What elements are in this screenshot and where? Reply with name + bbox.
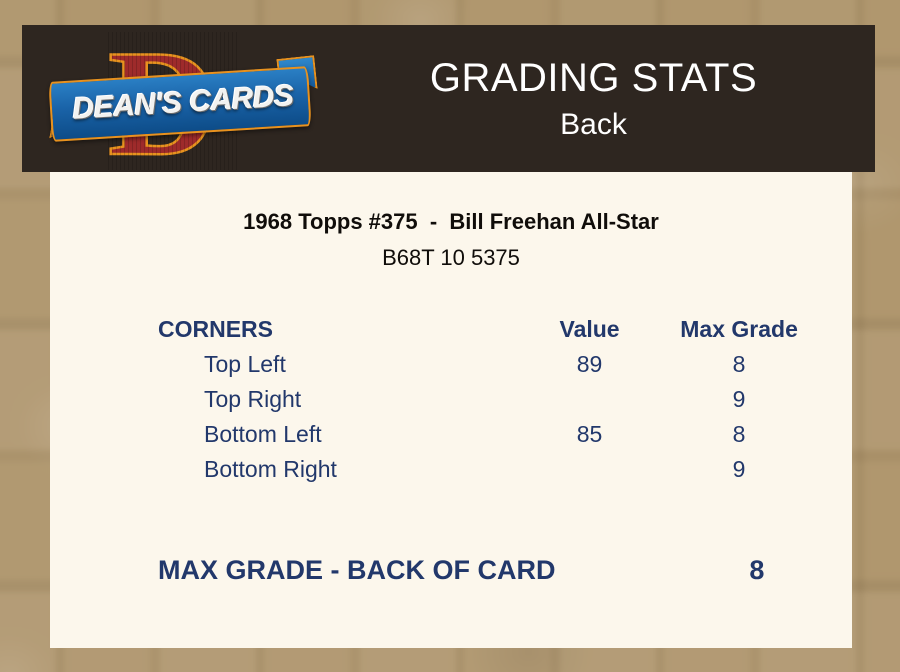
corner-value: 89 — [515, 347, 664, 382]
corner-value: 85 — [515, 417, 664, 452]
corner-max-grade: 9 — [664, 452, 814, 487]
grading-table: CORNERS Value Max Grade Top Left 89 8 To… — [154, 312, 814, 487]
card-title: 1968 Topps #375 - Bill Freehan All-Star — [50, 209, 852, 235]
corner-value — [515, 452, 664, 487]
header-title-group: GRADING STATS Back — [312, 25, 875, 172]
page-subtitle: Back — [560, 105, 627, 145]
corner-label: Top Left — [154, 347, 515, 382]
page-title: GRADING STATS — [430, 53, 757, 103]
corner-max-grade: 8 — [664, 347, 814, 382]
table-row: Bottom Left 85 8 — [154, 417, 814, 452]
corner-max-grade: 9 — [664, 382, 814, 417]
corner-max-grade: 8 — [664, 417, 814, 452]
column-header-value: Value — [515, 312, 664, 347]
grading-stats-page: D DEAN'S CARDS GRADING STATS Back 1968 T… — [0, 0, 900, 672]
max-grade-summary-label: MAX GRADE - BACK OF CARD — [154, 555, 700, 586]
content-panel: 1968 Topps #375 - Bill Freehan All-Star … — [50, 172, 852, 648]
corner-label: Bottom Left — [154, 417, 515, 452]
max-grade-summary-value: 8 — [700, 555, 814, 586]
card-code: B68T 10 5375 — [50, 245, 852, 271]
table-row: Bottom Right 9 — [154, 452, 814, 487]
header-bar: D DEAN'S CARDS GRADING STATS Back — [22, 25, 875, 172]
table-header-row: CORNERS Value Max Grade — [154, 312, 814, 347]
table-header: CORNERS Value Max Grade — [154, 312, 814, 347]
max-grade-summary-row: MAX GRADE - BACK OF CARD 8 — [154, 555, 814, 586]
column-header-corners: CORNERS — [154, 312, 515, 347]
corner-label: Bottom Right — [154, 452, 515, 487]
table-row: Top Left 89 8 — [154, 347, 814, 382]
table-row: Top Right 9 — [154, 382, 814, 417]
corner-value — [515, 382, 664, 417]
deans-cards-logo[interactable]: D DEAN'S CARDS — [50, 27, 310, 170]
table-body: Top Left 89 8 Top Right 9 Bottom Left 85… — [154, 347, 814, 487]
corner-label: Top Right — [154, 382, 515, 417]
column-header-max-grade: Max Grade — [664, 312, 814, 347]
